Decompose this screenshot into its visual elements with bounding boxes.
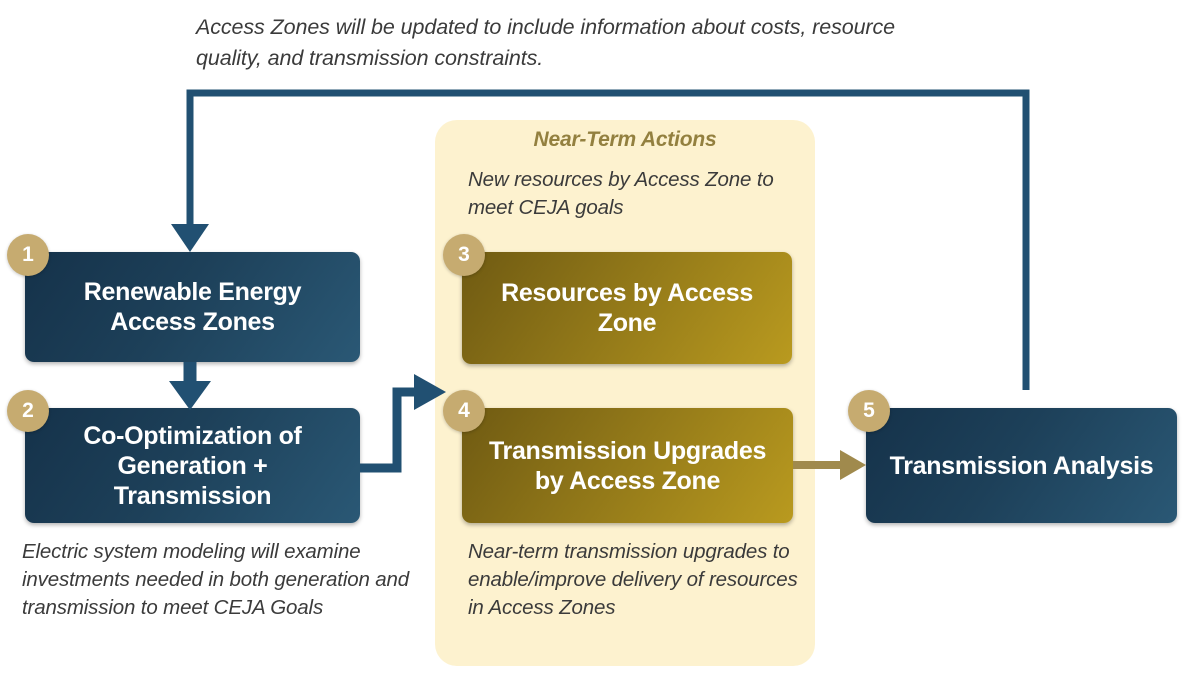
node-co-optimization-generation-transmission[interactable]: Co-Optimization of Generation + Transmis… [25,408,360,523]
diagram-canvas: Access Zones will be updated to include … [0,0,1200,680]
near-term-actions-subtitle: New resources by Access Zone to meet CEJ… [468,166,798,222]
node-2-badge: 2 [7,390,49,432]
arrow-node1-to-node2 [169,362,211,410]
node-4-badge: 4 [443,390,485,432]
near-term-actions-title: Near-Term Actions [435,128,815,152]
caption-near-term-transmission: Near-term transmission upgrades to enabl… [468,538,798,622]
node-5-label: Transmission Analysis [866,451,1177,481]
top-annotation-text: Access Zones will be updated to include … [196,12,896,73]
node-4-label: Transmission Upgrades by Access Zone [462,436,793,496]
node-1-badge: 1 [7,234,49,276]
arrow-node2-to-node4 [360,374,446,468]
node-5-badge: 5 [848,390,890,432]
node-3-label: Resources by Access Zone [462,278,792,338]
node-transmission-analysis[interactable]: Transmission Analysis [866,408,1177,523]
node-1-label: Renewable Energy Access Zones [25,277,360,337]
caption-electric-system-modeling: Electric system modeling will examine in… [22,538,442,622]
node-3-badge: 3 [443,234,485,276]
node-resources-by-access-zone[interactable]: Resources by Access Zone [462,252,792,364]
node-transmission-upgrades-by-access-zone[interactable]: Transmission Upgrades by Access Zone [462,408,793,523]
node-2-label: Co-Optimization of Generation + Transmis… [25,421,360,511]
node-renewable-energy-access-zones[interactable]: Renewable Energy Access Zones [25,252,360,362]
